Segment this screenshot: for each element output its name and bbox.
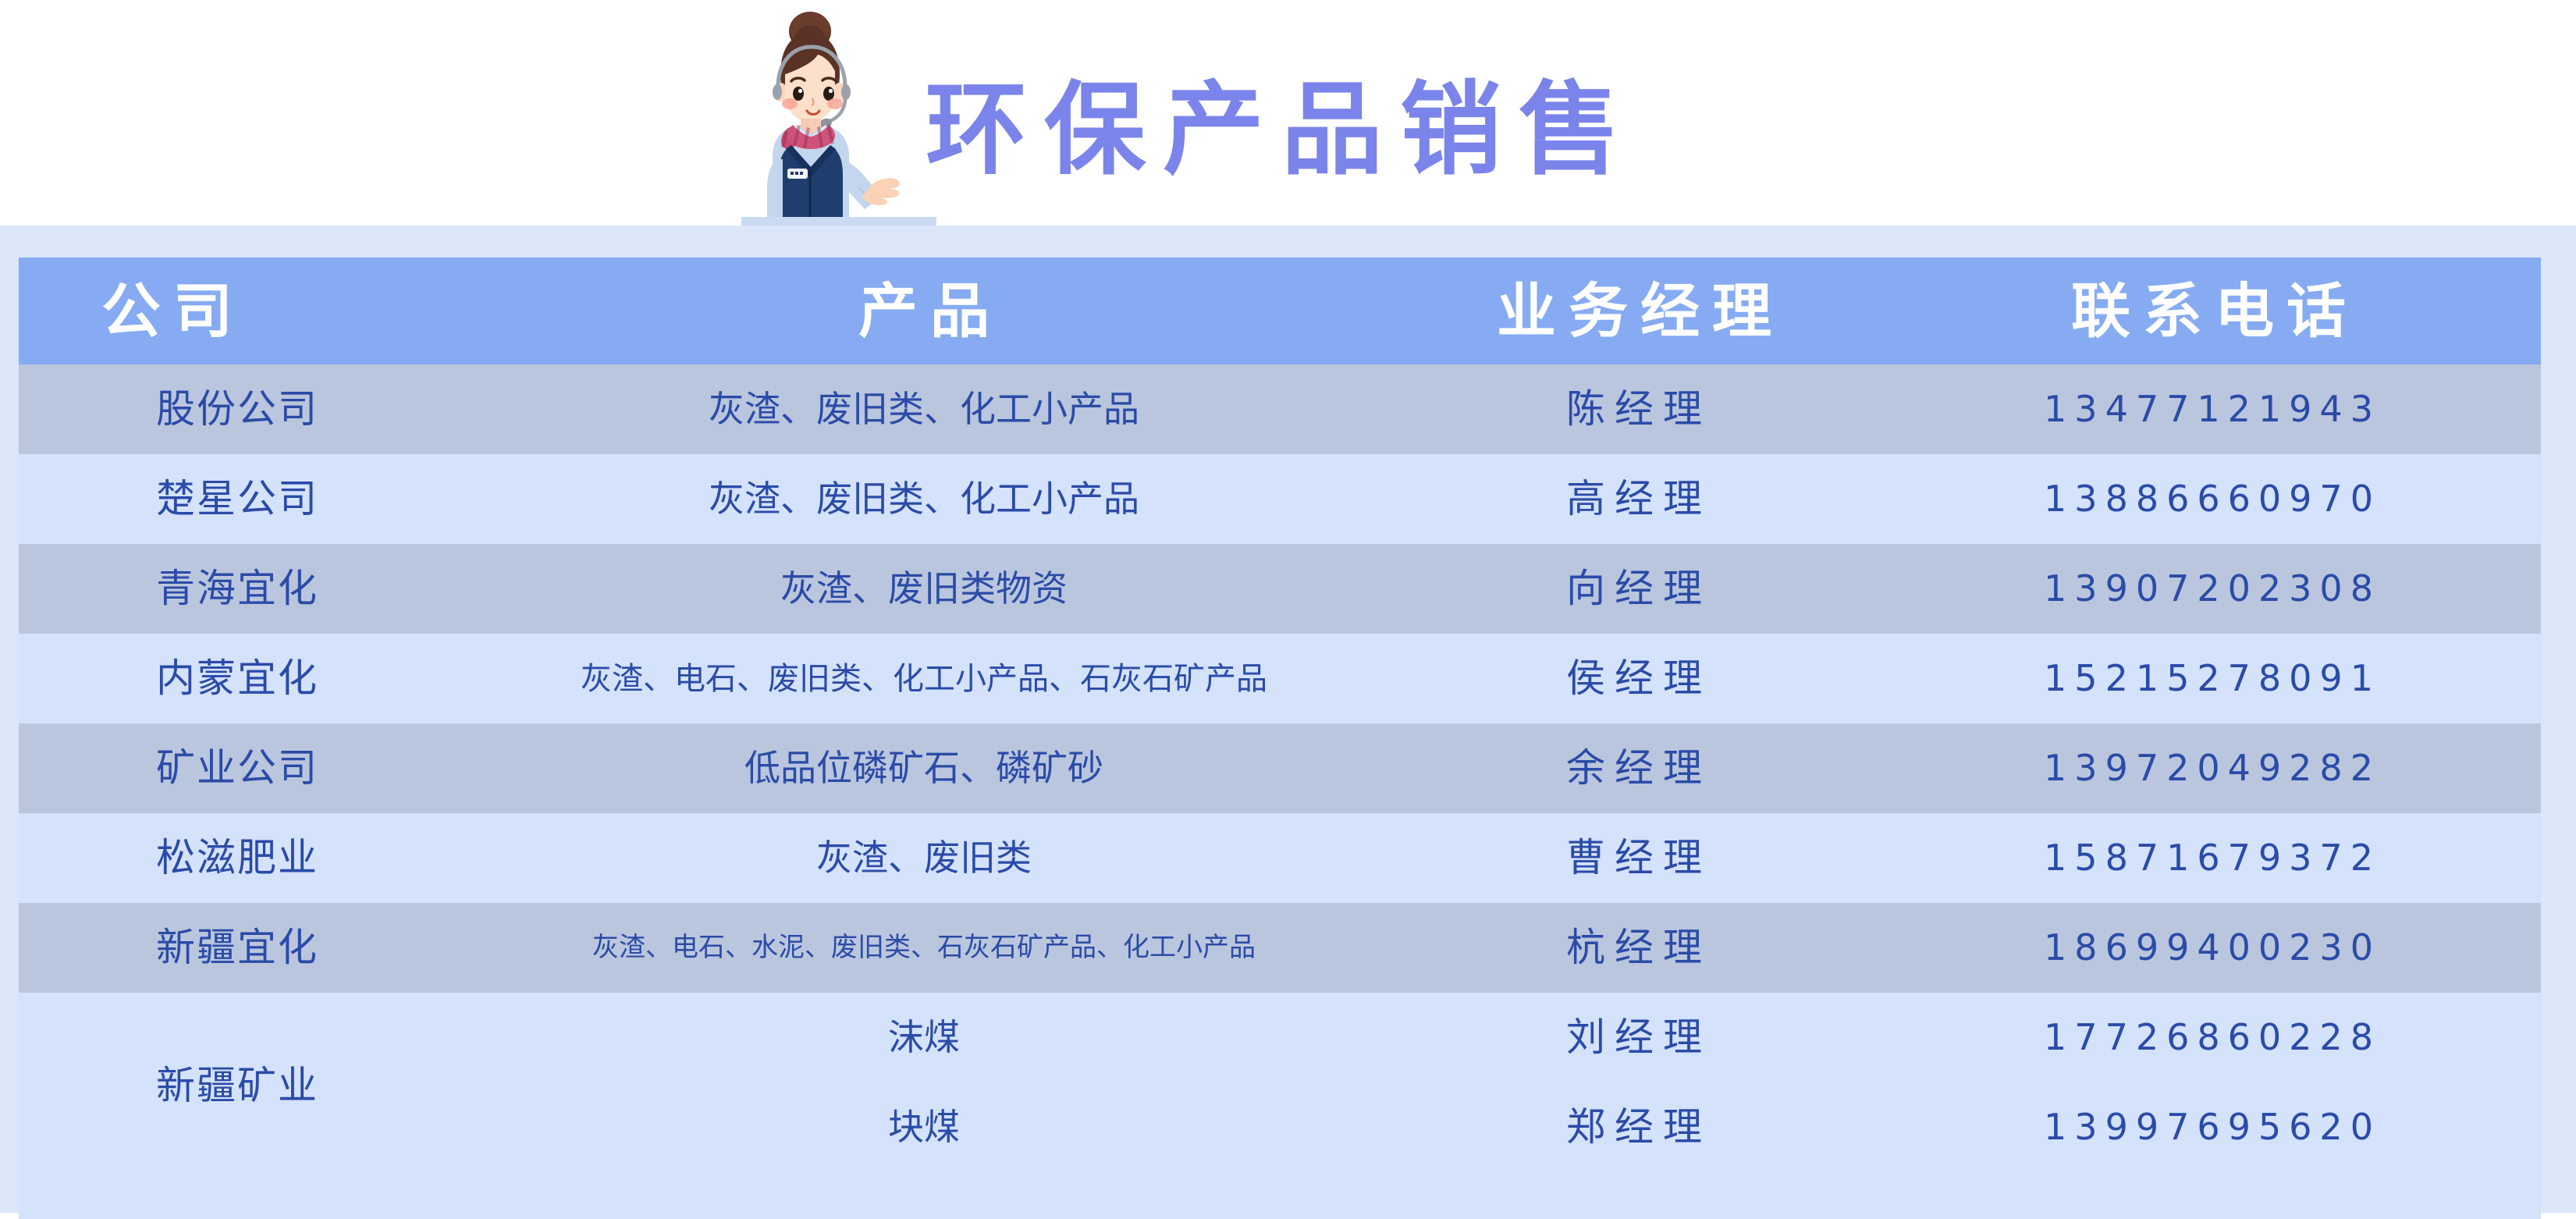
table-header-row: 公司 产品 业务经理 联系电话 — [19, 258, 2541, 364]
cell-manager: 向经理 — [1392, 567, 1876, 610]
cell-product: 低品位磷矿石、磷矿砂 — [456, 748, 1392, 788]
column-header-phone: 联系电话 — [1876, 282, 2541, 341]
cell-product: 灰渣、废旧类 — [456, 838, 1392, 878]
cell-manager: 刘经理 — [1392, 1016, 1876, 1059]
grouped-entries: 沫煤 刘经理 17726860228 块煤 郑经理 13997695620 — [456, 993, 2541, 1172]
cell-company: 新疆宜化 — [19, 926, 456, 969]
cell-manager: 高经理 — [1392, 478, 1876, 521]
cell-company: 松滋肥业 — [19, 837, 456, 880]
table-row[interactable]: 松滋肥业 灰渣、废旧类 曹经理 15871679372 — [19, 813, 2541, 903]
cell-phone: 13997695620 — [1876, 1107, 2541, 1147]
cell-product: 灰渣、废旧类、化工小产品 — [456, 479, 1392, 519]
table-row[interactable]: 内蒙宜化 灰渣、电石、废旧类、化工小产品、石灰石矿产品 侯经理 15215278… — [19, 634, 2541, 723]
table-subrow[interactable]: 沫煤 刘经理 17726860228 — [456, 993, 2541, 1082]
customer-service-representative-icon — [741, 0, 936, 226]
cell-phone: 18699400230 — [1876, 928, 2541, 968]
table-row[interactable]: 新疆宜化 灰渣、电石、水泥、废旧类、石灰石矿产品、化工小产品 杭经理 18699… — [19, 903, 2541, 993]
column-header-product: 产品 — [456, 282, 1392, 341]
cell-manager: 侯经理 — [1392, 657, 1876, 700]
table-row[interactable]: 青海宜化 灰渣、废旧类物资 向经理 13907202308 — [19, 544, 2541, 634]
cell-company: 楚星公司 — [19, 478, 456, 521]
table-row-grouped[interactable]: 新疆矿业 沫煤 刘经理 17726860228 块煤 郑经理 139976956… — [19, 993, 2541, 1172]
cell-phone: 13477121943 — [1876, 389, 2541, 429]
cell-company: 矿业公司 — [19, 747, 456, 790]
cell-manager: 杭经理 — [1392, 926, 1876, 969]
cell-product: 沫煤 — [456, 1018, 1392, 1057]
cell-manager: 郑经理 — [1392, 1106, 1876, 1149]
cell-phone: 13972049282 — [1876, 748, 2541, 788]
table-row[interactable]: 股份公司 灰渣、废旧类、化工小产品 陈经理 13477121943 — [19, 364, 2541, 454]
cell-product: 灰渣、电石、废旧类、化工小产品、石灰石矿产品 — [456, 662, 1392, 696]
table-subrow[interactable]: 块煤 郑经理 13997695620 — [456, 1082, 2541, 1172]
cell-product: 灰渣、废旧类、化工小产品 — [456, 389, 1392, 429]
products-table: 公司 产品 业务经理 联系电话 股份公司 灰渣、废旧类、化工小产品 陈经理 13… — [19, 258, 2541, 1219]
cell-company: 新疆矿业 — [19, 993, 456, 1172]
cell-phone: 17726860228 — [1876, 1018, 2541, 1057]
cell-manager: 余经理 — [1392, 747, 1876, 790]
cell-phone: 13907202308 — [1876, 569, 2541, 609]
cell-company: 内蒙宜化 — [19, 657, 456, 700]
cell-product: 灰渣、废旧类物资 — [456, 569, 1392, 609]
cell-company: 股份公司 — [19, 388, 456, 431]
table-bottom-padding — [19, 1172, 2541, 1219]
cell-manager: 曹经理 — [1392, 837, 1876, 880]
cell-product: 灰渣、电石、水泥、废旧类、石灰石矿产品、化工小产品 — [456, 933, 1392, 962]
banner: 环保产品销售 — [0, 0, 2576, 226]
table-row[interactable]: 矿业公司 低品位磷矿石、磷矿砂 余经理 13972049282 — [19, 723, 2541, 813]
banner-inner: 环保产品销售 — [741, 0, 1637, 226]
cell-manager: 陈经理 — [1392, 388, 1876, 431]
cell-company: 青海宜化 — [19, 567, 456, 610]
table-row[interactable]: 楚星公司 灰渣、废旧类、化工小产品 高经理 13886660970 — [19, 454, 2541, 544]
column-header-company: 公司 — [19, 282, 456, 341]
cell-phone: 13886660970 — [1876, 479, 2541, 519]
column-header-manager: 业务经理 — [1392, 282, 1876, 341]
cell-phone: 15215278091 — [1876, 659, 2541, 698]
cell-phone: 15871679372 — [1876, 838, 2541, 878]
page-title: 环保产品销售 — [926, 79, 1637, 226]
cell-product: 块煤 — [456, 1107, 1392, 1147]
